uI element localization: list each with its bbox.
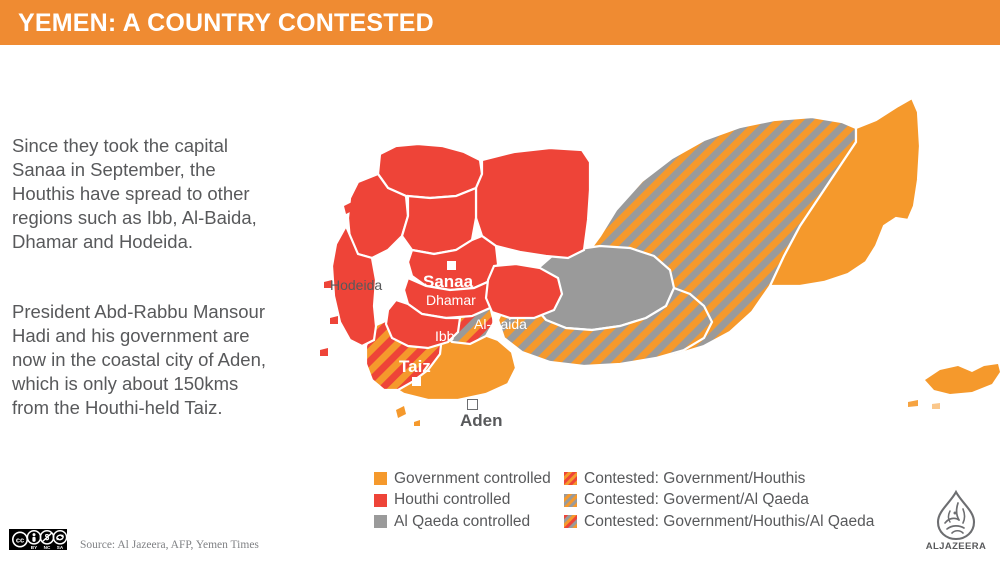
legend-label-contested-gov-houthis-alqaeda: Contested: Government/Houthis/Al Qaeda bbox=[584, 513, 874, 531]
svg-text:NC: NC bbox=[44, 545, 51, 550]
body-paragraph-1: Since they took the capital Sanaa in Sep… bbox=[12, 134, 280, 254]
infographic-root: YEMEN: A COUNTRY CONTESTED Since they to… bbox=[0, 0, 1000, 562]
city-marker-sanaa bbox=[447, 261, 456, 270]
legend-swatch-contested-gov-houthis bbox=[564, 472, 577, 485]
region-aljawf-marib-houthi bbox=[476, 148, 590, 258]
map-label-taiz: Taiz bbox=[399, 357, 431, 377]
map-label-ibb: Ibb bbox=[435, 328, 454, 344]
socotra-islet-1 bbox=[908, 400, 918, 407]
source-credit: Source: Al Jazeera, AFP, Yemen Times bbox=[80, 539, 259, 551]
legend-item-contested-gov-alqaeda[interactable]: Contested: Goverment/Al Qaeda bbox=[564, 490, 874, 512]
map-label-albaida: Al-Baida bbox=[474, 316, 527, 332]
legend-item-alqaeda[interactable]: Al Qaeda controlled bbox=[374, 511, 551, 533]
legend-swatch-contested-gov-houthis-alqaeda bbox=[564, 515, 577, 528]
city-marker-taiz bbox=[412, 377, 421, 386]
region-socotra-government bbox=[925, 364, 1000, 394]
map-label-aden: Aden bbox=[460, 411, 503, 431]
legend-item-houthi[interactable]: Houthi controlled bbox=[374, 490, 551, 512]
legend-label-government: Government controlled bbox=[394, 470, 551, 488]
map-islet-4 bbox=[320, 348, 328, 356]
legend-swatch-government bbox=[374, 472, 387, 485]
body-paragraph-2: President Abd-Rabbu Mansour Hadi and his… bbox=[12, 300, 280, 420]
legend-item-contested-gov-houthis[interactable]: Contested: Government/Houthis bbox=[564, 468, 874, 490]
map-islet-5 bbox=[396, 406, 406, 418]
socotra-islet-2 bbox=[932, 403, 940, 409]
legend-column-solid: Government controlled Houthi controlled … bbox=[374, 468, 551, 533]
creative-commons-badge[interactable]: cc BY $ NC SA bbox=[9, 529, 67, 550]
svg-text:BY: BY bbox=[31, 545, 37, 550]
svg-text:cc: cc bbox=[16, 536, 24, 545]
yemen-map: Hodeida Sanaa Dhamar Al-Baida Ibb Taiz A… bbox=[300, 50, 1000, 450]
legend-swatch-contested-gov-alqaeda bbox=[564, 494, 577, 507]
legend-label-alqaeda: Al Qaeda controlled bbox=[394, 513, 530, 531]
map-islet-3 bbox=[330, 316, 338, 324]
legend-swatch-houthi bbox=[374, 494, 387, 507]
map-label-hodeida: Hodeida bbox=[330, 277, 382, 293]
legend-label-houthi: Houthi controlled bbox=[394, 491, 510, 509]
map-islet-6 bbox=[414, 420, 420, 426]
legend-swatch-alqaeda bbox=[374, 515, 387, 528]
legend-label-contested-gov-houthis: Contested: Government/Houthis bbox=[584, 470, 805, 488]
legend-column-contested: Contested: Government/Houthis Contested:… bbox=[564, 468, 874, 533]
header-bar: YEMEN: A COUNTRY CONTESTED bbox=[0, 0, 1000, 45]
legend-label-contested-gov-alqaeda: Contested: Goverment/Al Qaeda bbox=[584, 491, 809, 509]
legend-item-contested-gov-houthis-alqaeda[interactable]: Contested: Government/Houthis/Al Qaeda bbox=[564, 511, 874, 533]
map-label-sanaa: Sanaa bbox=[423, 272, 473, 292]
aljazeera-wordmark: ALJAZEERA bbox=[926, 541, 987, 551]
legend-item-government[interactable]: Government controlled bbox=[374, 468, 551, 490]
city-marker-aden bbox=[467, 399, 478, 410]
svg-text:SA: SA bbox=[57, 545, 64, 550]
map-label-dhamar: Dhamar bbox=[426, 292, 476, 308]
page-title: YEMEN: A COUNTRY CONTESTED bbox=[18, 9, 434, 37]
aljazeera-logo: ALJAZEERA bbox=[925, 489, 987, 551]
